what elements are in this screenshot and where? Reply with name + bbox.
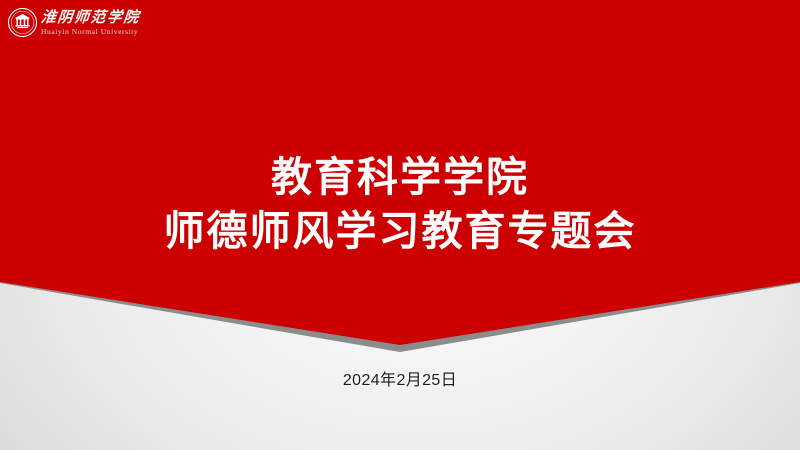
logo-chinese-name: 淮阴师范学院: [40, 10, 141, 25]
university-seal-icon: [8, 8, 37, 37]
presentation-slide: 淮阴师范学院 Huaiyin Normal University 教育科学学院 …: [0, 0, 800, 450]
logo-english-name: Huaiyin Normal University: [41, 28, 140, 36]
slide-title: 教育科学学院 师德师风学习教育专题会: [0, 150, 800, 258]
slide-date: 2024年2月25日: [0, 366, 800, 390]
logo-wordmark: 淮阴师范学院 Huaiyin Normal University: [41, 10, 140, 36]
title-line-1: 教育科学学院: [0, 150, 800, 204]
university-logo: 淮阴师范学院 Huaiyin Normal University: [8, 8, 140, 37]
title-line-2: 师德师风学习教育专题会: [0, 204, 800, 258]
